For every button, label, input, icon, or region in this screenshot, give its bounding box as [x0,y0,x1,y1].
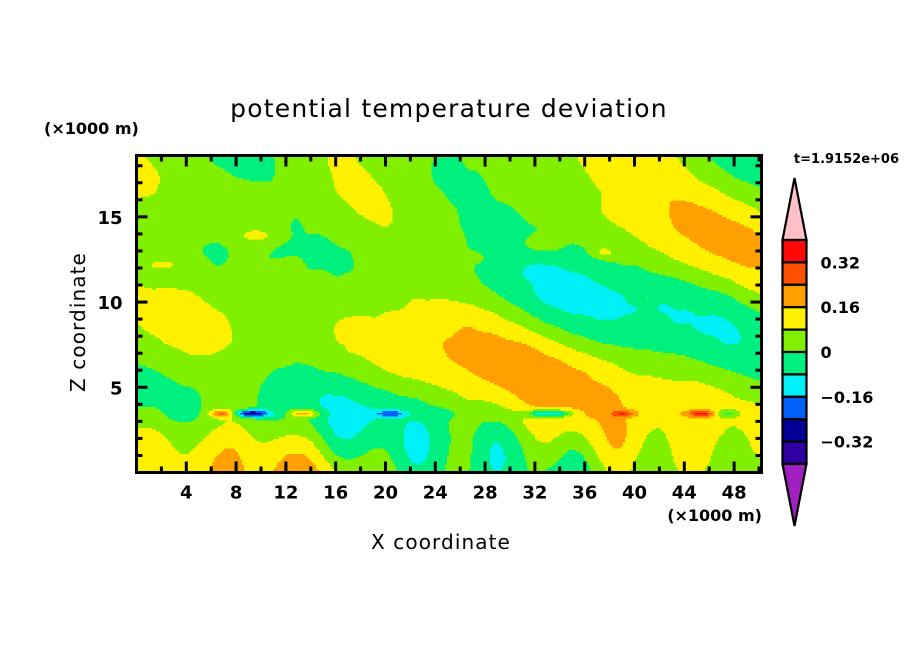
colorbar-band [783,352,807,374]
y-axis-title: Z coordinate [66,252,90,392]
x-axis-unit-label: (×1000 m) [667,506,762,525]
z-axis-unit-label: (×1000 m) [44,119,139,138]
x-axis-tick-label: 20 [373,483,398,504]
x-axis-tick-label: 24 [423,483,448,504]
x-axis-tick-label: 12 [273,483,298,504]
colorbar-band [783,330,807,352]
x-axis-tick-label: 16 [323,483,348,504]
contour-figure: potential temperature deviation (×1000 m… [0,0,904,654]
y-axis-tick-label: 15 [97,208,122,229]
y-axis-tick-label: 10 [97,293,122,314]
colorbar-band [783,397,807,419]
x-axis-tick-label: 44 [672,483,697,504]
colorbar-band [783,240,807,262]
colorbar-band [783,262,807,284]
colorbar-band [783,419,807,441]
x-axis-tick-label: 28 [473,483,498,504]
x-axis-tick-label: 48 [722,483,747,504]
x-axis-title: X coordinate [371,530,511,554]
colorbar-band [783,374,807,396]
colorbar-tick-label: −0.16 [821,388,874,407]
colorbar-tick-label: 0 [821,343,832,362]
x-axis-tick-label: 32 [522,483,547,504]
colorbar-band [783,307,807,329]
x-axis-tick-label: 36 [572,483,597,504]
contour-field [137,156,763,474]
x-axis-tick-label: 4 [180,483,193,504]
page-title: potential temperature deviation [230,94,668,123]
colorbar-band [783,442,807,464]
colorbar-tick-label: 0.32 [821,253,860,272]
colorbar-band [783,285,807,307]
y-axis-tick-label: 5 [110,378,123,399]
x-axis-tick-label: 40 [622,483,647,504]
colorbar-tick-label: 0.16 [821,298,860,317]
colorbar-tick-label: −0.32 [821,433,874,452]
x-axis-tick-label: 8 [230,483,243,504]
time-annotation: t=1.9152e+06 [794,152,899,167]
